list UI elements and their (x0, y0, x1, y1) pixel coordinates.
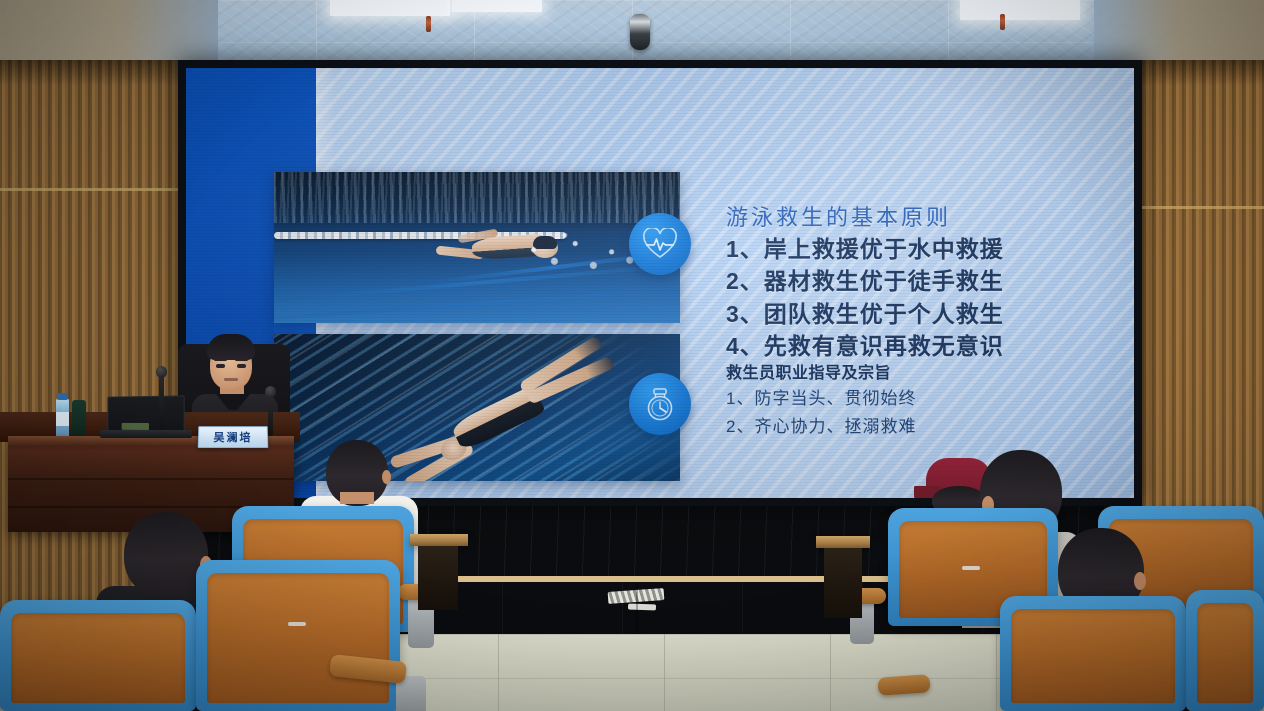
seat-backrest (1011, 609, 1175, 703)
water-bottle-cap (57, 393, 68, 400)
slide-title: 游泳救生的基本原则 (726, 204, 1106, 232)
ceiling-light-3 (960, 0, 1080, 20)
aisle-side-table-right (816, 536, 870, 548)
presenter-nameplate: 吴澜培 (198, 426, 269, 448)
seat-left-lower[interactable] (0, 600, 196, 711)
sub-item-1: 1、防字当头、贯彻始终 (726, 385, 1106, 413)
attendee-ear (382, 470, 391, 484)
wall-seam-right (1134, 206, 1264, 209)
seat-backrest (1197, 603, 1253, 703)
laptop-base[interactable] (100, 430, 192, 438)
seat-hook (962, 566, 980, 570)
microphone-head-2 (265, 386, 276, 398)
lecture-hall-scene: 游泳救生的基本原则 1、岸上救援优于水中救援 2、器材救生优于徒手救生 3、团队… (0, 0, 1264, 711)
aisle-side-table-right-leg (824, 548, 862, 618)
presenter-eye-right (237, 364, 246, 368)
wall-shadow-left (0, 60, 186, 86)
sub-item-2: 2、齐心协力、拯溺救难 (726, 413, 1106, 441)
presenter-brow-right (235, 358, 248, 361)
presenter-eye-left (216, 364, 225, 368)
microphone-stand-2 (268, 392, 273, 436)
sprinkler-1 (426, 16, 431, 32)
microphone-head (156, 366, 167, 378)
heart-pulse-icon (629, 213, 691, 275)
ceiling-light-1 (330, 0, 450, 16)
seat-armrest-right-2 (877, 674, 930, 696)
photo-underwater-swimmer (274, 172, 680, 323)
seat-left-mid[interactable] (196, 560, 400, 711)
principle-item-1: 1、岸上救援优于水中救援 (726, 233, 1106, 266)
water-bubbles (518, 229, 648, 281)
seat-backrest (207, 573, 389, 703)
projector-sensor-icon (630, 14, 650, 50)
slide-text-column: 游泳救生的基本原则 1、岸上救援优于水中救援 2、器材救生优于徒手救生 3、团队… (726, 204, 1106, 441)
seat-right-lower[interactable] (1000, 596, 1186, 711)
seat-right-edge[interactable] (1186, 590, 1264, 711)
principle-item-3: 3、团队救生优于个人救生 (726, 298, 1106, 331)
water-bottle-label (56, 412, 69, 426)
presenter-brow-left (214, 358, 227, 361)
principle-item-4: 4、先救有意识再救无意识 (726, 330, 1106, 363)
aisle-side-table-left (410, 534, 468, 546)
principle-item-2: 2、器材救生优于徒手救生 (726, 265, 1106, 298)
water-surface-reflection (274, 172, 680, 223)
swimmer-legs (514, 334, 630, 413)
sprinkler-2 (1000, 14, 1005, 30)
attendee-neck (340, 492, 374, 504)
stage-base-seam (636, 582, 638, 638)
microphone-stand (159, 372, 164, 430)
seat-backrest (11, 613, 185, 703)
nameplate-text: 吴澜培 (213, 429, 252, 445)
thermos-flask (72, 400, 86, 440)
wall-seam-left (0, 188, 186, 191)
ceiling-light-2 (452, 0, 542, 12)
laptop-logo (122, 423, 149, 430)
presentation-screen[interactable]: 游泳救生的基本原则 1、岸上救援优于水中救援 2、器材救生优于徒手救生 3、团队… (186, 68, 1134, 498)
slide-subheading: 救生员职业指导及宗旨 (726, 364, 1106, 385)
presenter-mouth (224, 378, 238, 381)
presenter-hair (207, 334, 255, 360)
attendee-ear (1134, 572, 1146, 590)
aisle-side-table-left-leg (418, 546, 458, 610)
seat-hook (288, 622, 306, 626)
wall-shadow-right (1134, 60, 1264, 86)
stopwatch-icon (629, 373, 691, 435)
desk-front-groove (8, 478, 294, 480)
